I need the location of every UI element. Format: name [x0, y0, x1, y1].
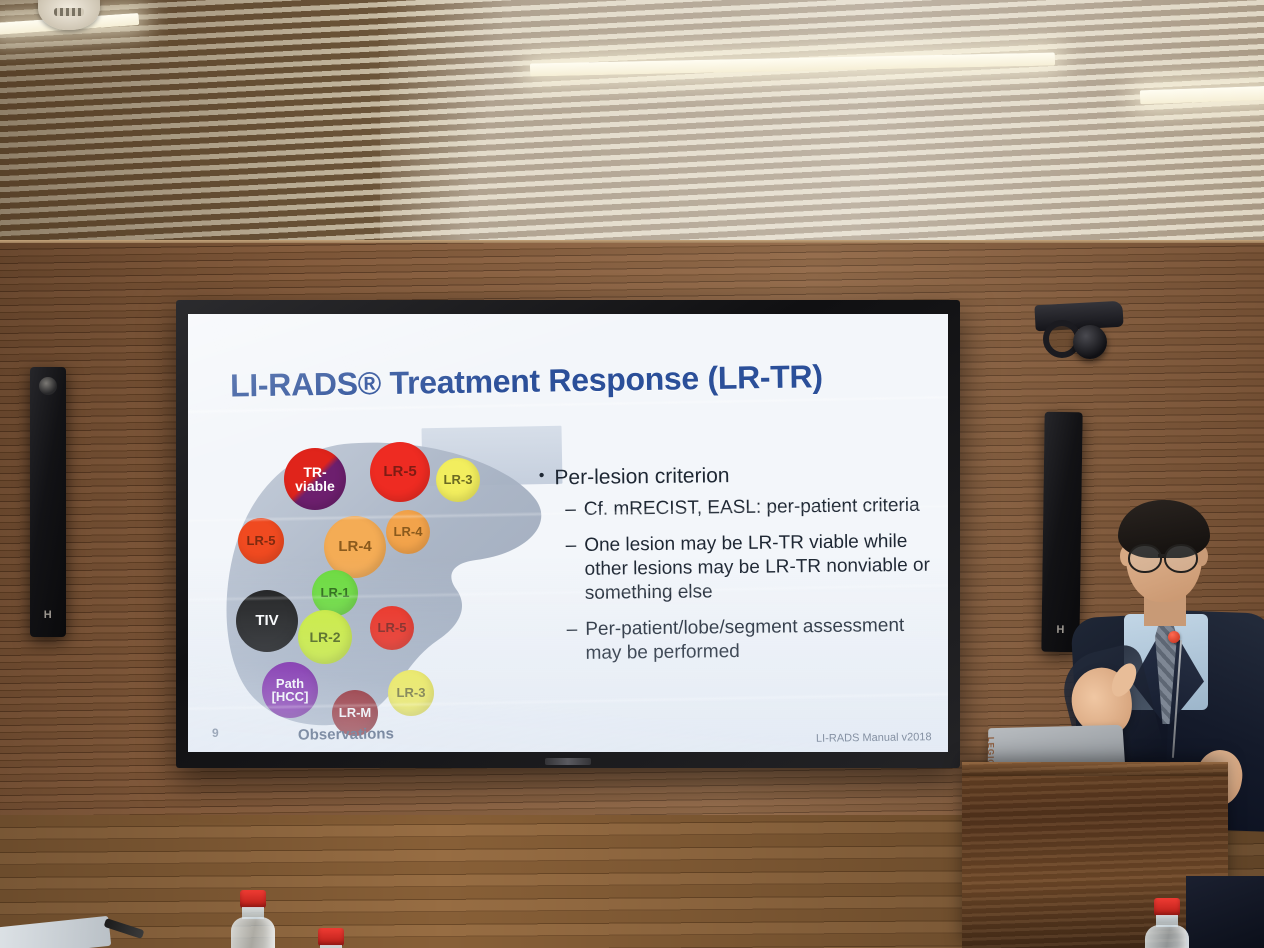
palette-blob: LR-1	[312, 570, 358, 616]
slide-screen: LI-RADS® Treatment Response (LR-TR) TR-v…	[188, 314, 948, 752]
display-brand-logo	[545, 758, 591, 765]
bottle-body	[1145, 925, 1189, 948]
eyeglasses-lens-right	[1164, 544, 1198, 573]
bullet-dot-icon: •	[539, 466, 545, 486]
eyeglasses-lens-left	[1128, 544, 1162, 573]
palette-blob: LR-4	[324, 516, 386, 578]
palette-blob-label: TIV	[255, 613, 278, 628]
palette-blob-label: LR-3	[444, 473, 473, 486]
palette-blob-label: LR-1	[321, 586, 350, 599]
palette-blob-label-line2: viable	[295, 479, 335, 493]
palette-blob-label: LR-5	[378, 621, 407, 634]
observations-palette-diagram: TR-viableLR-5LR-3LR-5LR-4LR-4LR-1TIVLR-2…	[224, 442, 554, 732]
bullet-text: Per-patient/lobe/segment assessment may …	[585, 613, 937, 665]
ptz-camera-icon	[1035, 303, 1123, 365]
bottle-cap-icon	[318, 928, 344, 946]
foreground-dark-object	[1186, 876, 1264, 948]
eyeglasses-bridge	[1158, 554, 1166, 557]
palette-blob: LR-3	[388, 670, 434, 716]
microphone-icon	[1168, 631, 1180, 643]
bullet-dash-icon: –	[566, 534, 577, 558]
slide-title: LI-RADS® Treatment Response (LR-TR)	[230, 357, 930, 405]
camera-lens-icon	[1073, 325, 1107, 359]
lecture-hall-photo: H H LI-RADS® Treatment Response (LR-TR)	[0, 0, 1264, 948]
palette-blob-label: LR-4	[338, 539, 371, 554]
palette-blob: LR-5	[370, 442, 430, 502]
palette-blob-label: Path	[276, 677, 304, 690]
palette-blob: LR-3	[436, 458, 480, 502]
speaker-logo: H	[30, 609, 66, 621]
palette-blob: LR-5	[370, 606, 414, 650]
palette-blob-label: LR-5	[247, 534, 276, 547]
presentation-display[interactable]: LI-RADS® Treatment Response (LR-TR) TR-v…	[176, 300, 960, 768]
bottle-cap-icon	[1154, 898, 1180, 916]
palette-blob-label-line2: [HCC]	[272, 690, 309, 703]
slide-bullet-list: •Per-lesion criterion–Cf. mRECIST, EASL:…	[539, 462, 938, 678]
palette-blob-label: LR-4	[394, 525, 423, 538]
bottle-body	[231, 917, 275, 948]
palette-blob-label: LR-5	[383, 464, 416, 479]
bottle-cap-icon	[240, 890, 266, 908]
bullet-level2: –Per-patient/lobe/segment assessment may…	[541, 613, 938, 666]
bullet-dash-icon: –	[567, 618, 578, 642]
speaker-tweeter-icon	[39, 377, 57, 395]
slide-number: 9	[212, 726, 219, 740]
palette-blob: TIV	[236, 590, 298, 652]
wall-speaker-left: H	[30, 367, 66, 637]
palette-blob-label: LR-2	[309, 630, 340, 644]
bullet-text: One lesion may be LR-TR viable while oth…	[584, 530, 936, 606]
water-bottle	[306, 928, 356, 948]
bullet-text: Cf. mRECIST, EASL: per-patient criteria	[584, 494, 920, 522]
bullet-dash-icon: –	[565, 498, 576, 522]
palette-blob-label: TR-	[303, 465, 326, 479]
palette-blob: LR-5	[238, 518, 284, 564]
bullet-level1: •Per-lesion criterion	[539, 462, 935, 491]
bullet-text: Per-lesion criterion	[554, 464, 729, 490]
water-bottle	[228, 890, 278, 948]
source-attribution: LI-RADS Manual v2018	[816, 731, 932, 745]
observations-caption: Observations	[298, 725, 394, 743]
bullet-level2: –One lesion may be LR-TR viable while ot…	[540, 530, 937, 607]
palette-blob: LR-4	[386, 510, 430, 554]
water-bottle	[1142, 898, 1192, 948]
ceiling-slat-wall	[0, 0, 1264, 250]
palette-blob-label: LR-M	[339, 706, 372, 719]
palette-blob: Path[HCC]	[262, 662, 318, 718]
palette-blob-label: LR-3	[397, 686, 426, 699]
bullet-level2: –Cf. mRECIST, EASL: per-patient criteria	[539, 494, 935, 523]
palette-blob: LR-2	[298, 610, 352, 664]
palette-blob: TR-viable	[284, 448, 346, 510]
